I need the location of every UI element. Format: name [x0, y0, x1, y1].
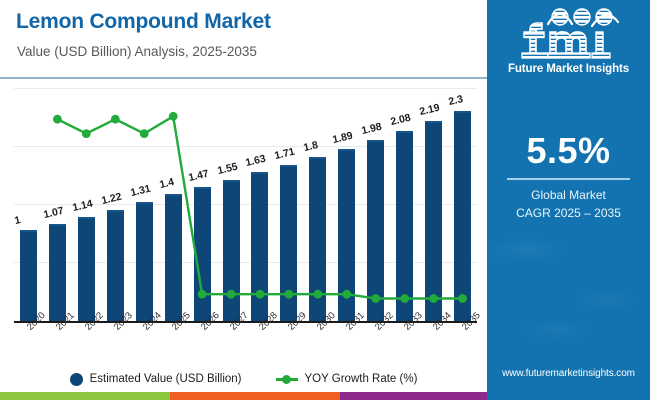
logo-caption: Future Market Insights [487, 63, 650, 75]
cagr-label: Global Market CAGR 2025 – 2035 [487, 186, 650, 222]
plot-area: 11.071.141.221.311.41.471.551.631.711.81… [14, 88, 477, 322]
chart-legend: Estimated Value (USD Billion)YOY Growth … [0, 368, 487, 390]
cagr-divider [507, 178, 630, 180]
cagr-value: 5.5% [487, 130, 650, 172]
yoy-point-2023 [111, 115, 120, 124]
legend-label: YOY Growth Rate (%) [305, 373, 418, 385]
chart-panel: Lemon Compound Market Value (USD Billion… [0, 0, 487, 392]
x-axis-labels: 2020202120222023202420252026202720282029… [14, 325, 477, 359]
yoy-point-2031 [342, 290, 351, 299]
logo-block: Future Market Insights [487, 8, 650, 75]
yoy-point-2033 [400, 294, 409, 303]
legend-item-1[interactable]: Estimated Value (USD Billion) [70, 373, 242, 386]
bottom-color-strip [0, 392, 650, 400]
page-subtitle: Value (USD Billion) Analysis, 2025-2035 [17, 44, 257, 59]
yoy-point-2030 [313, 290, 322, 299]
strip-green [0, 392, 170, 400]
yoy-line-path [57, 116, 462, 298]
cagr-label-line2: CAGR 2025 – 2035 [487, 204, 650, 222]
fmi-logo-icon [510, 8, 628, 62]
header-divider [0, 77, 487, 79]
line-series [14, 88, 477, 322]
yoy-growth-line [14, 88, 477, 322]
yoy-point-2021 [53, 115, 62, 124]
yoy-point-2024 [140, 129, 149, 138]
legend-label: Estimated Value (USD Billion) [90, 373, 242, 385]
yoy-point-2022 [82, 129, 91, 138]
yoy-point-2025 [169, 112, 178, 121]
yoy-point-2026 [198, 290, 207, 299]
legend-item-2[interactable]: YOY Growth Rate (%) [276, 373, 418, 386]
strip-blue [487, 392, 650, 400]
infographic-root: Lemon Compound Market Value (USD Billion… [0, 0, 650, 400]
page-title: Lemon Compound Market [16, 10, 271, 34]
legend-line-icon [276, 373, 298, 386]
yoy-point-2032 [371, 294, 380, 303]
strip-orange [170, 392, 340, 400]
strip-purple [340, 392, 487, 400]
yoy-point-2028 [256, 290, 265, 299]
legend-circle-icon [70, 373, 83, 386]
yoy-point-2035 [458, 294, 467, 303]
yoy-point-2029 [285, 290, 294, 299]
website-url[interactable]: www.futuremarketinsights.com [487, 368, 650, 379]
cagr-label-line1: Global Market [487, 186, 650, 204]
yoy-point-2027 [227, 290, 236, 299]
brand-panel: Future Market Insights 5.5% Global Marke… [487, 0, 650, 392]
yoy-point-2034 [429, 294, 438, 303]
